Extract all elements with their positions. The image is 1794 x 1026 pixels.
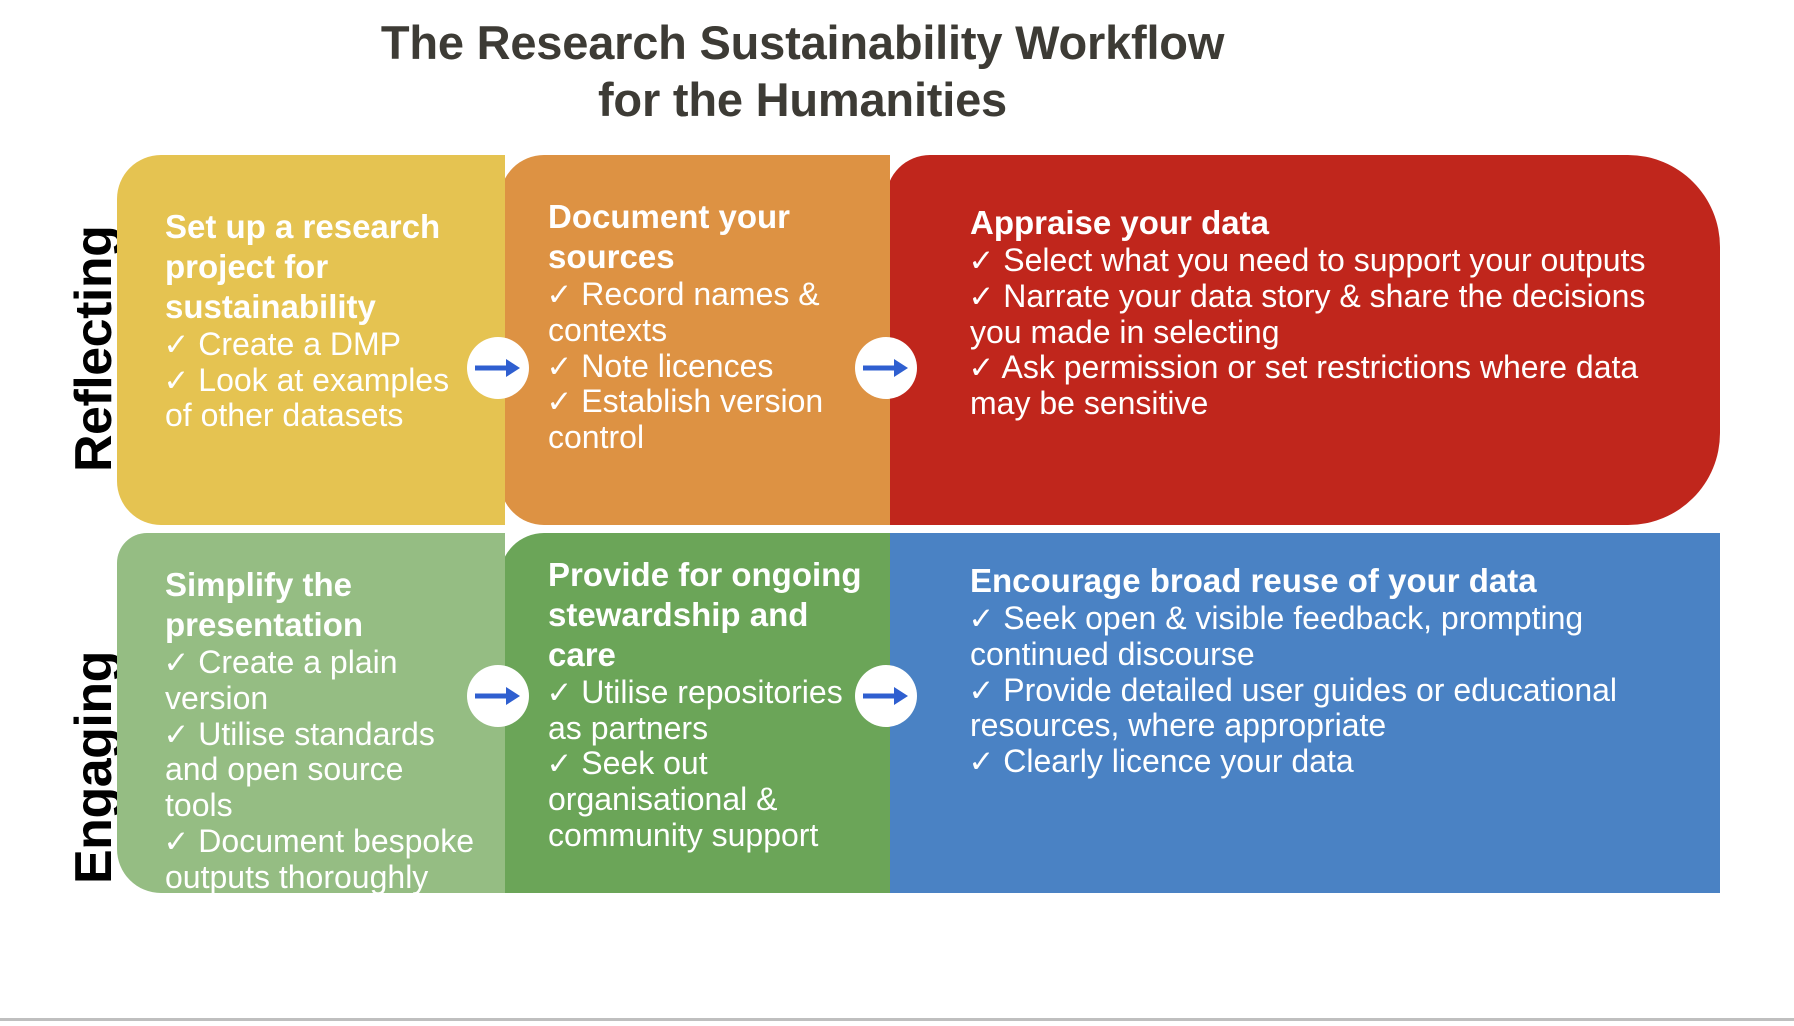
list-item: ✓ Record names & contexts (548, 277, 864, 349)
check-icon: ✓ (163, 824, 189, 859)
check-icon: ✓ (163, 645, 189, 680)
list-item: ✓ Establish version control (548, 384, 864, 456)
list-item-label: Establish version control (548, 383, 823, 455)
list-item-label: Seek out organisational & community supp… (548, 745, 818, 853)
list-item-label: Select what you need to support your out… (1003, 242, 1645, 278)
list-item-label: Utilise standards and open source tools (165, 716, 435, 824)
page-title: The Research Sustainability Workflow for… (0, 14, 1605, 129)
check-icon: ✓ (968, 279, 994, 314)
check-icon: ✓ (968, 243, 994, 278)
list-item-label: Narrate your data story & share the deci… (970, 278, 1645, 350)
list-item-label: Look at examples of other datasets (165, 362, 449, 434)
card-body: Document your sources ✓ Record names & c… (548, 197, 864, 456)
list-item: ✓ Create a DMP (165, 327, 479, 363)
list-item-label: Create a DMP (198, 326, 401, 362)
card-heading: Appraise your data (970, 203, 1680, 243)
list-item-label: Ask permission or set restrictions where… (970, 349, 1638, 421)
list-item: ✓ Narrate your data story & share the de… (970, 279, 1680, 351)
arrow-right-icon (855, 337, 917, 399)
check-icon: ✓ (546, 277, 572, 312)
card-body: Appraise your data ✓ Select what you nee… (970, 203, 1680, 422)
check-icon: ✓ (546, 746, 572, 781)
card-body: Provide for ongoing stewardship and care… (548, 555, 864, 854)
check-icon: ✓ (546, 384, 572, 419)
card-document-your-sources[interactable]: Document your sources ✓ Record names & c… (500, 155, 890, 525)
list-item-label: Utilise repositories as partners (548, 674, 843, 746)
list-item: ✓ Create a plain version (165, 645, 479, 717)
check-icon: ✓ (968, 350, 994, 385)
check-icon: ✓ (163, 327, 189, 362)
check-icon: ✓ (163, 717, 189, 752)
list-item-label: Create a plain version (165, 644, 398, 716)
arrow-right-icon (467, 337, 529, 399)
card-checklist: ✓ Utilise repositories as partners ✓ See… (548, 675, 864, 854)
card-set-up-a-research-project[interactable]: Set up a research project for sustainabi… (117, 155, 505, 525)
card-checklist: ✓ Create a DMP ✓ Look at examples of oth… (165, 327, 479, 434)
card-heading: Encourage broad reuse of your data (970, 561, 1680, 601)
list-item: ✓ Utilise standards and open source tool… (165, 717, 479, 824)
card-checklist: ✓ Record names & contexts ✓ Note licence… (548, 277, 864, 456)
check-icon: ✓ (968, 673, 994, 708)
card-checklist: ✓ Select what you need to support your o… (970, 243, 1680, 422)
card-checklist: ✓ Seek open & visible feedback, promptin… (970, 601, 1680, 780)
card-heading: Set up a research project for sustainabi… (165, 207, 479, 327)
list-item: ✓ Utilise repositories as partners (548, 675, 864, 747)
list-item: ✓ Clearly licence your data (970, 744, 1680, 780)
card-heading: Provide for ongoing stewardship and care (548, 555, 864, 675)
card-body: Set up a research project for sustainabi… (165, 207, 479, 434)
card-appraise-your-data[interactable]: Appraise your data ✓ Select what you nee… (886, 155, 1720, 525)
card-encourage-broad-reuse-of-your-data[interactable]: Encourage broad reuse of your data ✓ See… (886, 533, 1720, 893)
page-title-line-1: The Research Sustainability Workflow (0, 14, 1605, 71)
list-item: ✓ Document bespoke outputs thoroughly (165, 824, 479, 896)
list-item-label: Seek open & visible feedback, prompting … (970, 600, 1583, 672)
list-item: ✓ Select what you need to support your o… (970, 243, 1680, 279)
list-item: ✓ Seek open & visible feedback, promptin… (970, 601, 1680, 673)
slide-bottom-edge (0, 1018, 1794, 1026)
arrow-right-icon (467, 665, 529, 727)
card-provide-for-ongoing-stewardship-and-care[interactable]: Provide for ongoing stewardship and care… (500, 533, 890, 893)
slide-canvas: The Research Sustainability Workflow for… (0, 0, 1794, 1026)
check-icon: ✓ (968, 601, 994, 636)
list-item-label: Clearly licence your data (1003, 743, 1353, 779)
arrow-right-icon (855, 665, 917, 727)
card-body: Simplify the presentation ✓ Create a pla… (165, 565, 479, 896)
list-item-label: Provide detailed user guides or educatio… (970, 672, 1617, 744)
list-item-label: Record names & contexts (548, 276, 820, 348)
check-icon: ✓ (546, 675, 572, 710)
check-icon: ✓ (546, 349, 572, 384)
page-title-line-2: for the Humanities (0, 71, 1605, 128)
list-item-label: Note licences (581, 348, 773, 384)
check-icon: ✓ (163, 363, 189, 398)
list-item-label: Document bespoke outputs thoroughly (165, 823, 474, 895)
card-simplify-the-presentation[interactable]: Simplify the presentation ✓ Create a pla… (117, 533, 505, 893)
list-item: ✓ Seek out organisational & community su… (548, 746, 864, 853)
card-body: Encourage broad reuse of your data ✓ See… (970, 561, 1680, 780)
list-item: ✓ Note licences (548, 349, 864, 385)
card-heading: Document your sources (548, 197, 864, 277)
list-item: ✓ Look at examples of other datasets (165, 363, 479, 435)
check-icon: ✓ (968, 744, 994, 779)
list-item: ✓ Provide detailed user guides or educat… (970, 673, 1680, 745)
list-item: ✓ Ask permission or set restrictions whe… (970, 350, 1680, 422)
card-heading: Simplify the presentation (165, 565, 479, 645)
card-checklist: ✓ Create a plain version ✓ Utilise stand… (165, 645, 479, 896)
